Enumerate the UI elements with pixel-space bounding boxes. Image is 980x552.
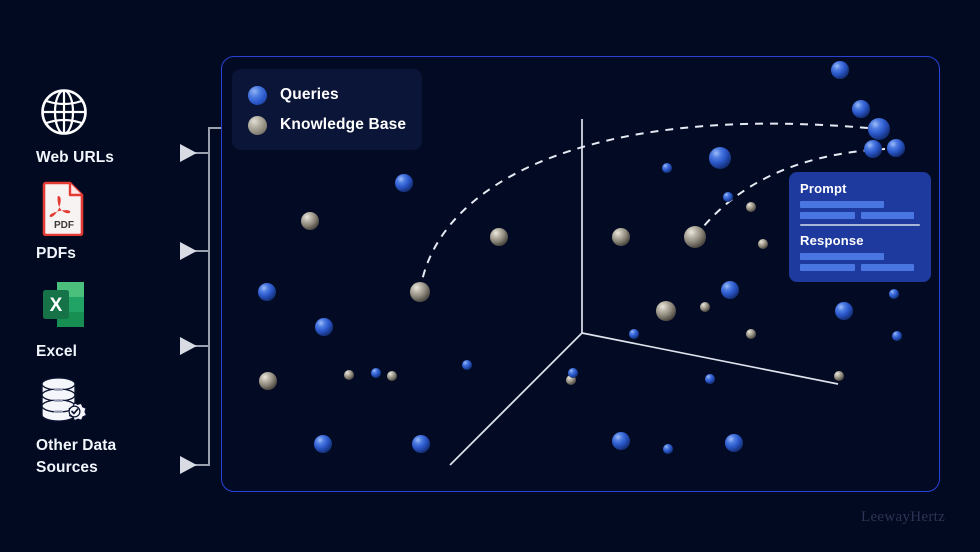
response-title: Response — [800, 233, 920, 248]
legend-label-knowledge-base: Knowledge Base — [280, 116, 406, 134]
watermark: LeewayHertz — [861, 509, 945, 526]
prompt-response-card[interactable]: Prompt Response — [789, 172, 931, 282]
legend-box: Queries Knowledge Base — [232, 69, 422, 150]
response-text-placeholder-row-2 — [800, 264, 920, 271]
knowledge-base-points — [259, 202, 844, 390]
prompt-title: Prompt — [800, 181, 920, 196]
prompt-text-placeholder-row-1 — [800, 201, 920, 208]
placeholder-bar — [800, 201, 884, 208]
card-divider — [800, 224, 920, 226]
placeholder-bar — [800, 253, 884, 260]
prompt-text-placeholder-row-2 — [800, 212, 920, 219]
placeholder-bar — [800, 212, 855, 219]
left-depth-axis — [450, 333, 582, 465]
placeholder-bar — [861, 212, 914, 219]
diagram-canvas: Web URLs PDF PDFs X Excel — [0, 0, 980, 552]
legend-label-queries: Queries — [280, 86, 339, 104]
blue-sphere-icon — [248, 86, 267, 105]
gray-sphere-icon — [248, 116, 267, 135]
legend-item-queries[interactable]: Queries — [248, 80, 422, 110]
response-text-placeholder-row-1 — [800, 253, 920, 260]
placeholder-bar — [861, 264, 914, 271]
legend-item-knowledge-base[interactable]: Knowledge Base — [248, 110, 422, 140]
placeholder-bar — [800, 264, 855, 271]
